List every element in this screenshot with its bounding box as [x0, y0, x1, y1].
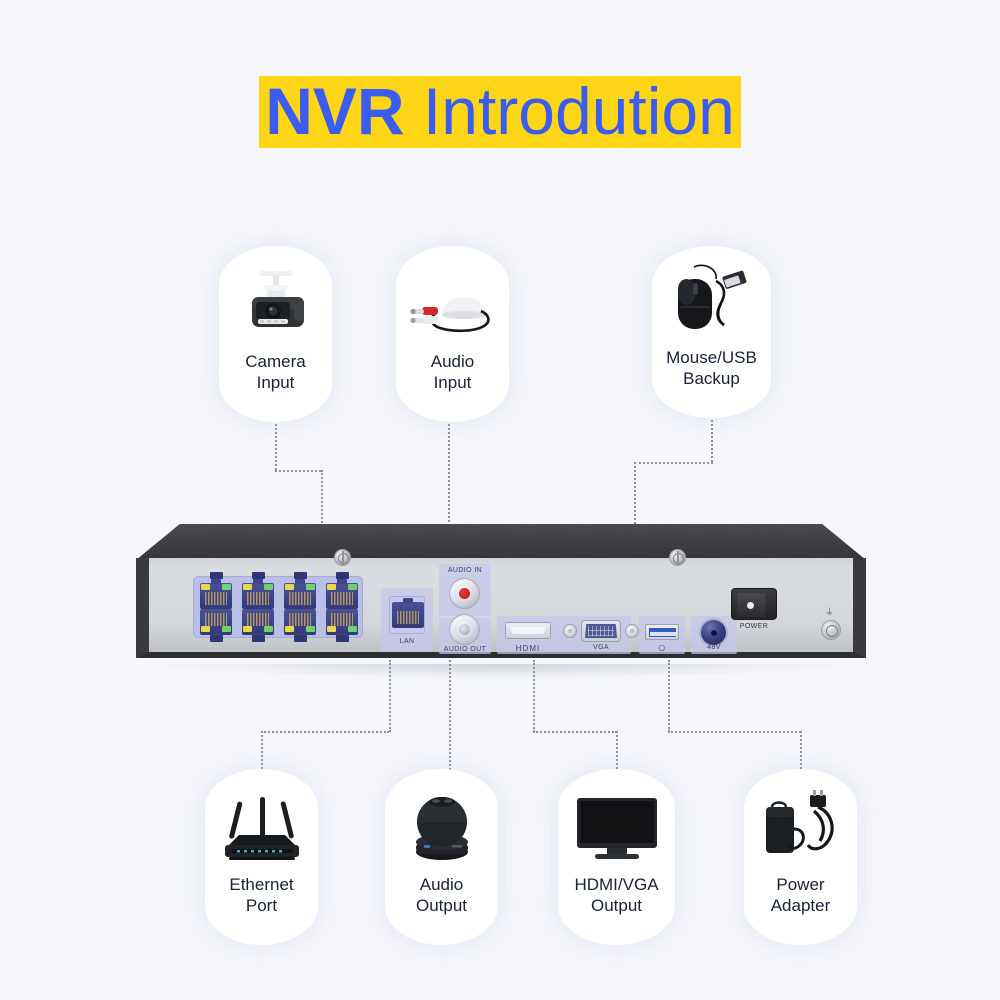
poe-led-link [201, 626, 210, 632]
vga-thumbscrew-left [563, 624, 577, 638]
vga-label: VGA [577, 644, 625, 651]
poe-led-act [264, 584, 273, 590]
poe-led-link [285, 584, 294, 590]
nvr-top-cover [136, 524, 866, 560]
power-switch[interactable] [731, 588, 777, 620]
mouse-icon [652, 256, 771, 348]
poe-port-number [294, 572, 307, 579]
callout-mouse-usb-backup[interactable]: Mouse/USB Backup [652, 246, 771, 418]
lan-jack [392, 602, 424, 628]
callout-power-adapter[interactable]: Power Adapter [744, 769, 857, 945]
lead-eth-h [261, 731, 389, 733]
title-highlight: NVR Introdution [259, 76, 741, 148]
power-adapter-icon [744, 783, 857, 875]
audio-out-label: AUDIO OUT [439, 646, 491, 653]
power-label: POWER [727, 623, 781, 630]
lan-label: LAN [389, 638, 425, 645]
vga-port[interactable] [581, 620, 621, 642]
audio-in-label: AUDIO IN [439, 567, 491, 574]
lead-power-h [668, 731, 801, 733]
callout-label: Ethernet Port [225, 875, 297, 916]
poe-led-link [327, 626, 336, 632]
lead-mouse-h [634, 462, 713, 464]
audio-in-jack[interactable] [449, 578, 480, 609]
callout-camera-input[interactable]: Camera Input [219, 246, 332, 422]
poe-led-act [306, 626, 315, 632]
callout-label: HDMI/VGA Output [570, 875, 662, 916]
chassis-screw-left [334, 549, 351, 566]
poe-led-link [201, 584, 210, 590]
nvr-rear-face: LAN AUDIO IN AUDIO OUT HDMI VGA [136, 558, 866, 658]
monitor-icon [558, 783, 675, 875]
poe-port-block [193, 576, 363, 638]
callout-label: Mouse/USB Backup [662, 348, 761, 389]
poe-port-number [210, 572, 223, 579]
infographic-root: NVR Introdution [0, 0, 1000, 1000]
poe-port-number [336, 572, 349, 579]
ground-symbol-icon: ⏚ [825, 608, 834, 617]
speaker-icon [385, 783, 498, 875]
poe-port-number [252, 572, 265, 579]
callout-label: Camera Input [241, 352, 309, 393]
vga-thumbscrew-right [625, 624, 639, 638]
dc-in-jack[interactable] [701, 620, 726, 645]
poe-led-link [243, 584, 252, 590]
chassis-screw-right [669, 549, 686, 566]
callout-hdmi-vga-output[interactable]: HDMI/VGA Output [558, 769, 675, 945]
poe-led-link [243, 626, 252, 632]
title-space [405, 74, 423, 148]
page-title: NVR Introdution [0, 76, 1000, 148]
poe-led-act [348, 626, 357, 632]
callout-label: Audio Input [427, 352, 478, 393]
poe-port-number [210, 635, 223, 642]
callout-label: Power Adapter [767, 875, 835, 916]
poe-led-act [348, 584, 357, 590]
poe-led-link [285, 626, 294, 632]
usb-icon: ⎔ [645, 644, 679, 653]
ground-terminal [821, 620, 841, 640]
nvr-drop-shadow [154, 664, 848, 678]
poe-led-act [222, 584, 231, 590]
callout-ethernet-port[interactable]: Ethernet Port [205, 769, 318, 945]
usb-port[interactable] [645, 624, 679, 640]
title-bold-text: NVR [265, 74, 404, 148]
callout-audio-output[interactable]: Audio Output [385, 769, 498, 945]
callout-label: Audio Output [412, 875, 471, 916]
poe-port-number [336, 635, 349, 642]
lan-port[interactable] [389, 596, 425, 634]
lead-camera-h [275, 470, 321, 472]
dc-in-label: 48V [691, 644, 737, 651]
callout-audio-input[interactable]: Audio Input [396, 246, 509, 422]
router-icon [205, 783, 318, 875]
title-light-text: Introdution [423, 74, 735, 148]
poe-led-act [306, 584, 315, 590]
lead-hdmivga-h [533, 731, 617, 733]
hdmi-label: HDMI [501, 644, 555, 653]
poe-port-number [294, 635, 307, 642]
poe-led-act [264, 626, 273, 632]
bullet-camera-icon [219, 260, 332, 352]
poe-led-act [222, 626, 231, 632]
audio-out-jack[interactable] [449, 614, 480, 645]
nvr-rear-panel: LAN AUDIO IN AUDIO OUT HDMI VGA [136, 524, 866, 668]
poe-port-number [252, 635, 265, 642]
microphone-icon [396, 260, 509, 352]
hdmi-port[interactable] [505, 622, 551, 639]
poe-led-link [327, 584, 336, 590]
